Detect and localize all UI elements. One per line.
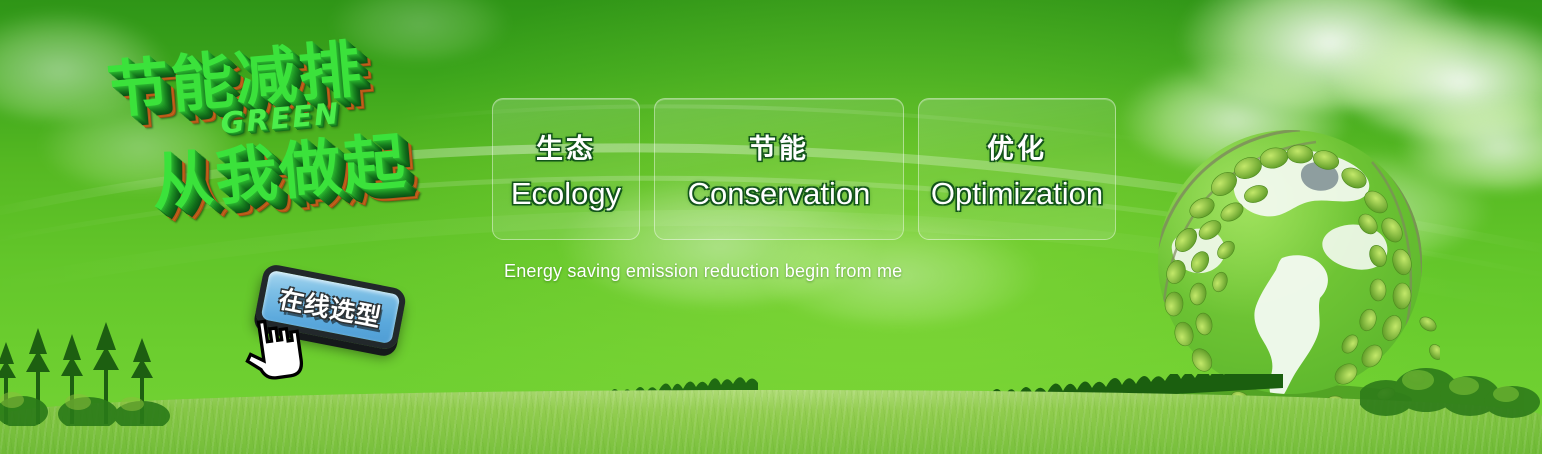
headline-line-2: 从我做起: [149, 130, 409, 214]
feature-card-ecology[interactable]: 生态 Ecology: [492, 98, 640, 240]
conifer-trees-left: [0, 316, 192, 426]
feature-card-cn-label: 节能: [749, 127, 809, 166]
feature-card-conservation[interactable]: 节能 Conservation: [654, 98, 904, 240]
feature-card-en-label: Ecology: [511, 176, 621, 212]
grass-field: [0, 390, 1542, 454]
feature-card-list: 生态 Ecology 节能 Conservation 优化 Optimizati…: [492, 98, 1116, 240]
banner-tagline: Energy saving emission reduction begin f…: [504, 261, 902, 282]
feature-card-en-label: Optimization: [931, 176, 1103, 212]
feature-card-cn-label: 生态: [536, 127, 596, 166]
pointing-hand-cursor-icon: [240, 312, 310, 390]
green-energy-banner: 节能减排 GREEN 从我做起 在线选型 生态 Ecology 节能 Conse…: [0, 0, 1542, 454]
feature-card-optimization[interactable]: 优化 Optimization: [918, 98, 1116, 240]
bush-right: [1360, 348, 1542, 418]
feature-card-en-label: Conservation: [688, 176, 871, 212]
headline-3d: 节能减排 GREEN 从我做起: [97, 28, 496, 290]
feature-card-cn-label: 优化: [987, 127, 1047, 166]
